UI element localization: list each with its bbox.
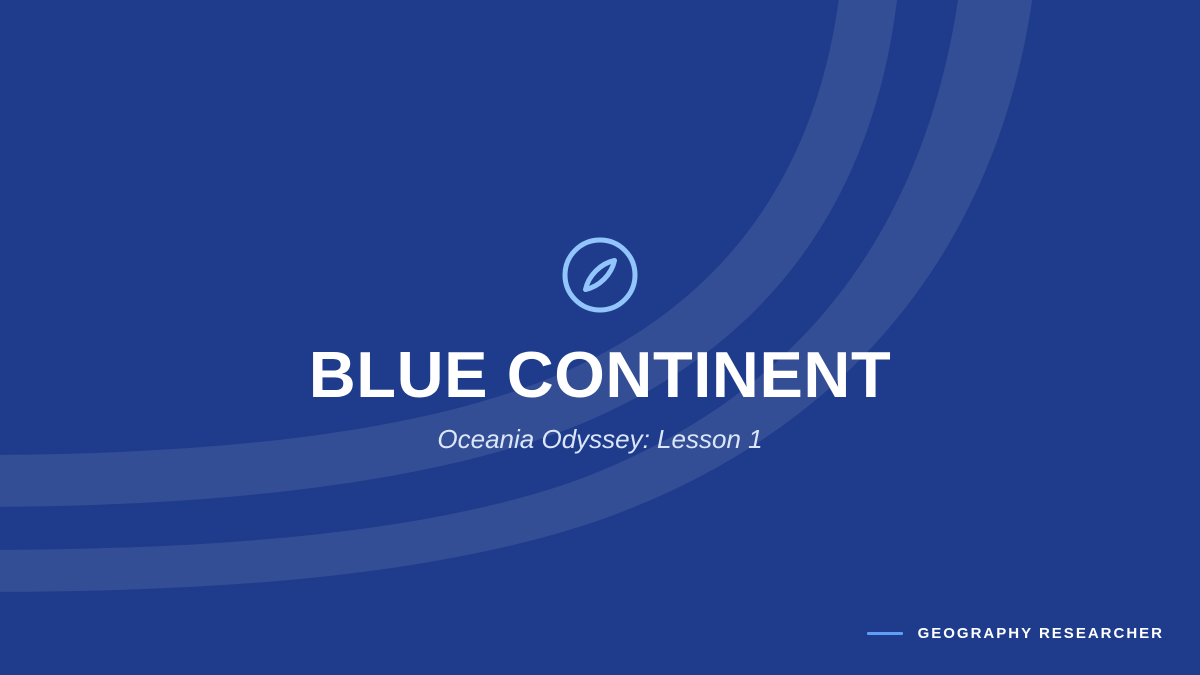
slide-subtitle: Oceania Odyssey: Lesson 1 [437, 426, 762, 452]
footer-label: GEOGRAPHY RESEARCHER [918, 625, 1164, 642]
title-slide: BLUE CONTINENT Oceania Odyssey: Lesson 1… [0, 0, 1200, 675]
accent-rule-icon [867, 632, 903, 635]
footer-branding: GEOGRAPHY RESEARCHER [867, 625, 1164, 642]
compass-icon [561, 236, 639, 314]
slide-content: BLUE CONTINENT Oceania Odyssey: Lesson 1 [0, 0, 1200, 675]
page-title: BLUE CONTINENT [309, 342, 892, 407]
